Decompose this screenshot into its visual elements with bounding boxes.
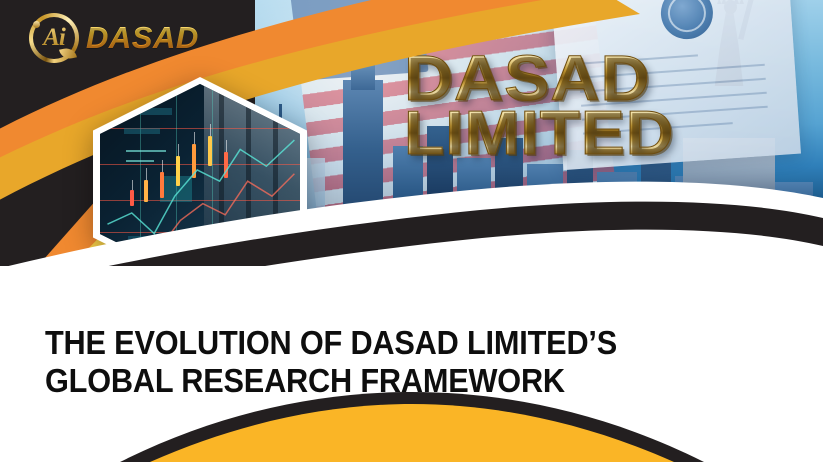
government-seal-icon — [659, 0, 715, 41]
document-line — [580, 78, 766, 93]
document-line — [578, 54, 698, 64]
trend-lines — [100, 84, 300, 268]
page-title: THE EVOLUTION OF DASAD LIMITED’S GLOBAL … — [45, 324, 640, 401]
water-glint — [705, 246, 785, 248]
water-glint — [435, 238, 545, 240]
official-document-icon — [551, 0, 801, 170]
seal-inner-ring — [667, 0, 708, 33]
hero-photo: ★ ★ ★ — [255, 0, 823, 268]
ai-circle-emblem-icon: Ai — [26, 10, 82, 66]
brand-name: DASAD — [86, 20, 199, 56]
hexagon-photo — [100, 84, 300, 268]
empire-state-building-icon — [343, 80, 383, 230]
document-line — [582, 106, 768, 121]
esb-setback — [351, 60, 375, 90]
water-glint — [315, 228, 385, 230]
document-line — [583, 122, 733, 134]
brand-logo[interactable]: Ai DASAD — [26, 10, 199, 66]
emblem-dot — [33, 21, 40, 28]
promotional-poster: ★ ★ ★ — [0, 0, 823, 462]
flag-star-icon: ★ — [344, 7, 360, 24]
water-glint — [595, 232, 685, 234]
hexagon-trading-image — [93, 77, 307, 268]
headline-line-1: THE EVOLUTION OF DASAD LIMITED’S — [45, 324, 640, 362]
headline-line-2: GLOBAL RESEARCH FRAMEWORK — [45, 362, 640, 400]
esb-spire — [361, 14, 364, 44]
document-line — [581, 92, 767, 107]
harbor-water — [255, 212, 823, 268]
document-line — [579, 64, 765, 79]
